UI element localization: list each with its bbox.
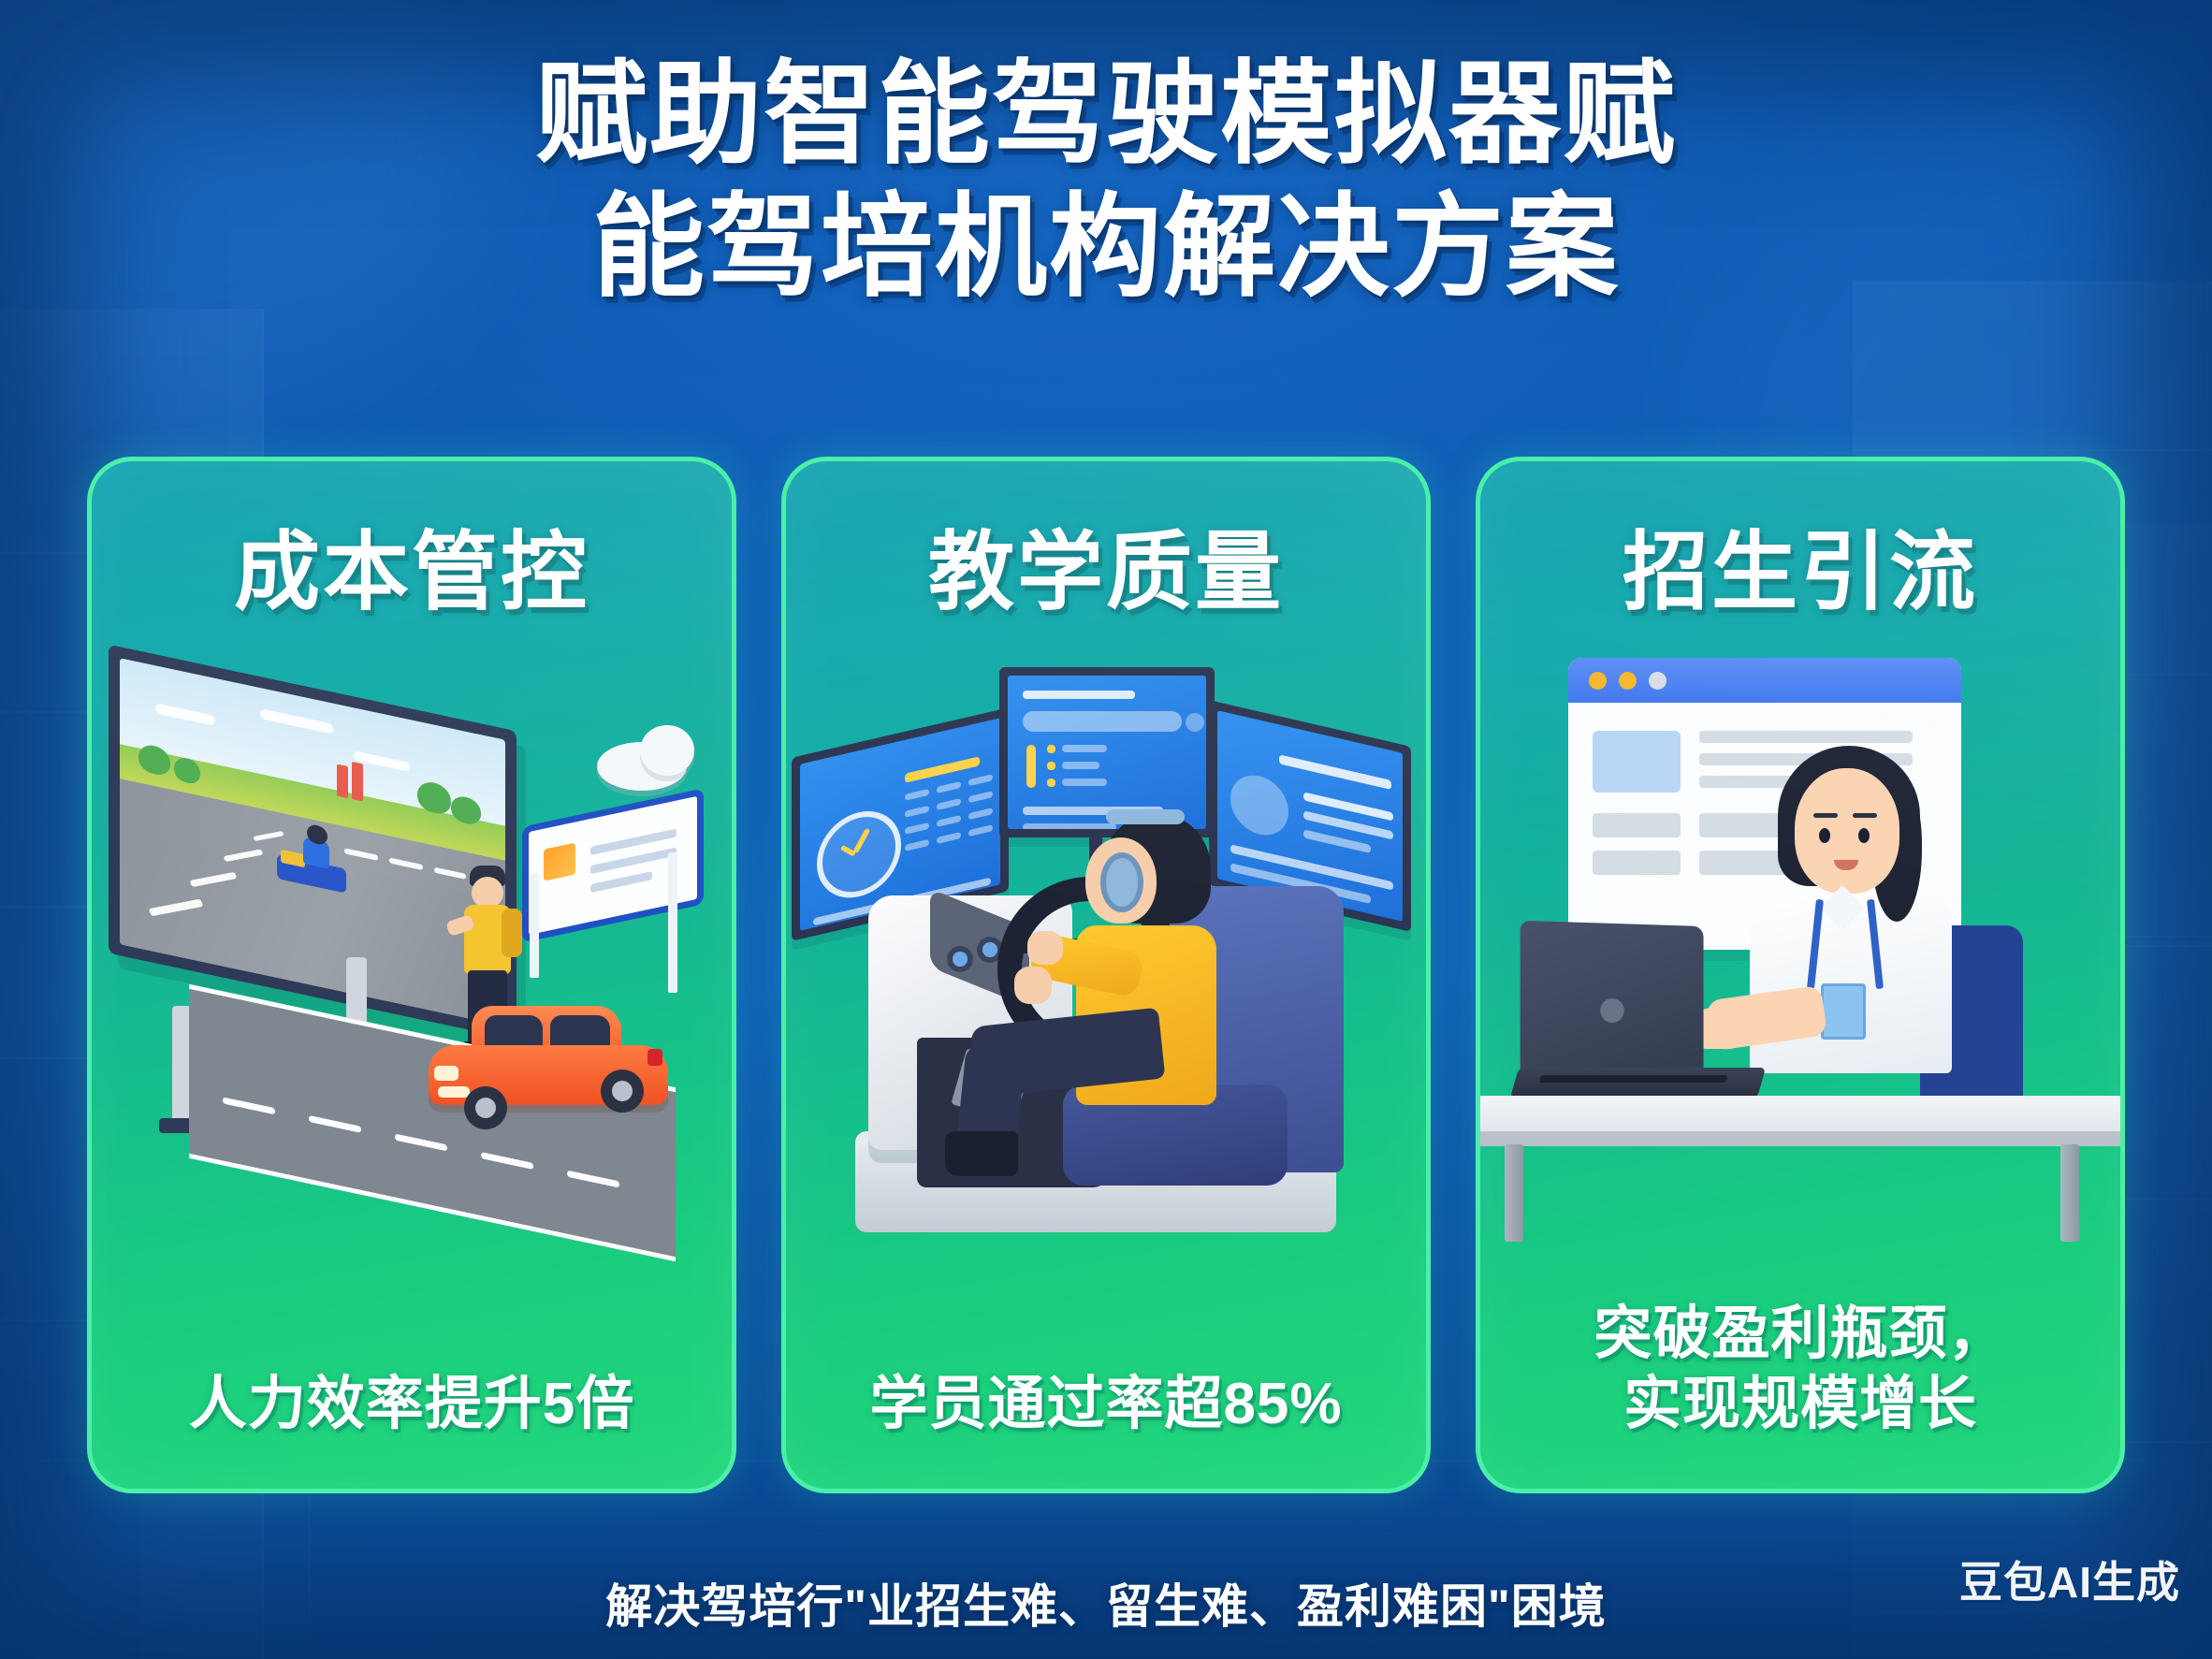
- cloud-icon: [640, 725, 694, 776]
- feature-card-enrollment[interactable]: 招生引流: [1476, 457, 2125, 1493]
- window-dot-icon: [1589, 672, 1607, 690]
- poster-root: 赋助智能驾驶模拟器赋 能驾培机构解决方案 成本管控: [0, 0, 2212, 1659]
- illustration-billboard-road: [92, 645, 732, 1262]
- title-line-2: 能驾培机构解决方案: [0, 182, 2212, 314]
- desk-surface: [1476, 1096, 2125, 1135]
- card-heading: 成本管控: [92, 502, 732, 627]
- illustration-staff-laptop: [1480, 645, 2120, 1262]
- card-heading: 招生引流: [1480, 502, 2120, 627]
- card-heading: 教学质量: [786, 502, 1426, 627]
- title-line-1: 赋助智能驾驶模拟器赋: [0, 49, 2212, 182]
- card-caption: 人力效率提升5倍: [125, 1369, 698, 1440]
- car-illustration: [421, 997, 683, 1137]
- illustration-driving-simulator: [786, 645, 1426, 1262]
- card-caption: 学员通过率超85%: [820, 1369, 1392, 1440]
- feature-card-list: 成本管控: [0, 457, 2212, 1505]
- card-caption: 突破盈利瓶颈，实现规模增长: [1514, 1299, 2087, 1440]
- feature-card-teaching-quality[interactable]: 教学质量: [781, 457, 1431, 1493]
- ai-watermark: 豆包AI生成: [1959, 1549, 2180, 1610]
- footer-tagline: 解决驾培行"业招生难、留生难、盈利难困"困境: [0, 1569, 2212, 1637]
- window-dot-icon: [1619, 672, 1637, 690]
- window-dot-icon: [1649, 672, 1666, 690]
- page-title: 赋助智能驾驶模拟器赋 能驾培机构解决方案: [0, 49, 2212, 313]
- feature-card-cost-control[interactable]: 成本管控: [87, 457, 736, 1493]
- billboard-screen: [109, 645, 517, 1041]
